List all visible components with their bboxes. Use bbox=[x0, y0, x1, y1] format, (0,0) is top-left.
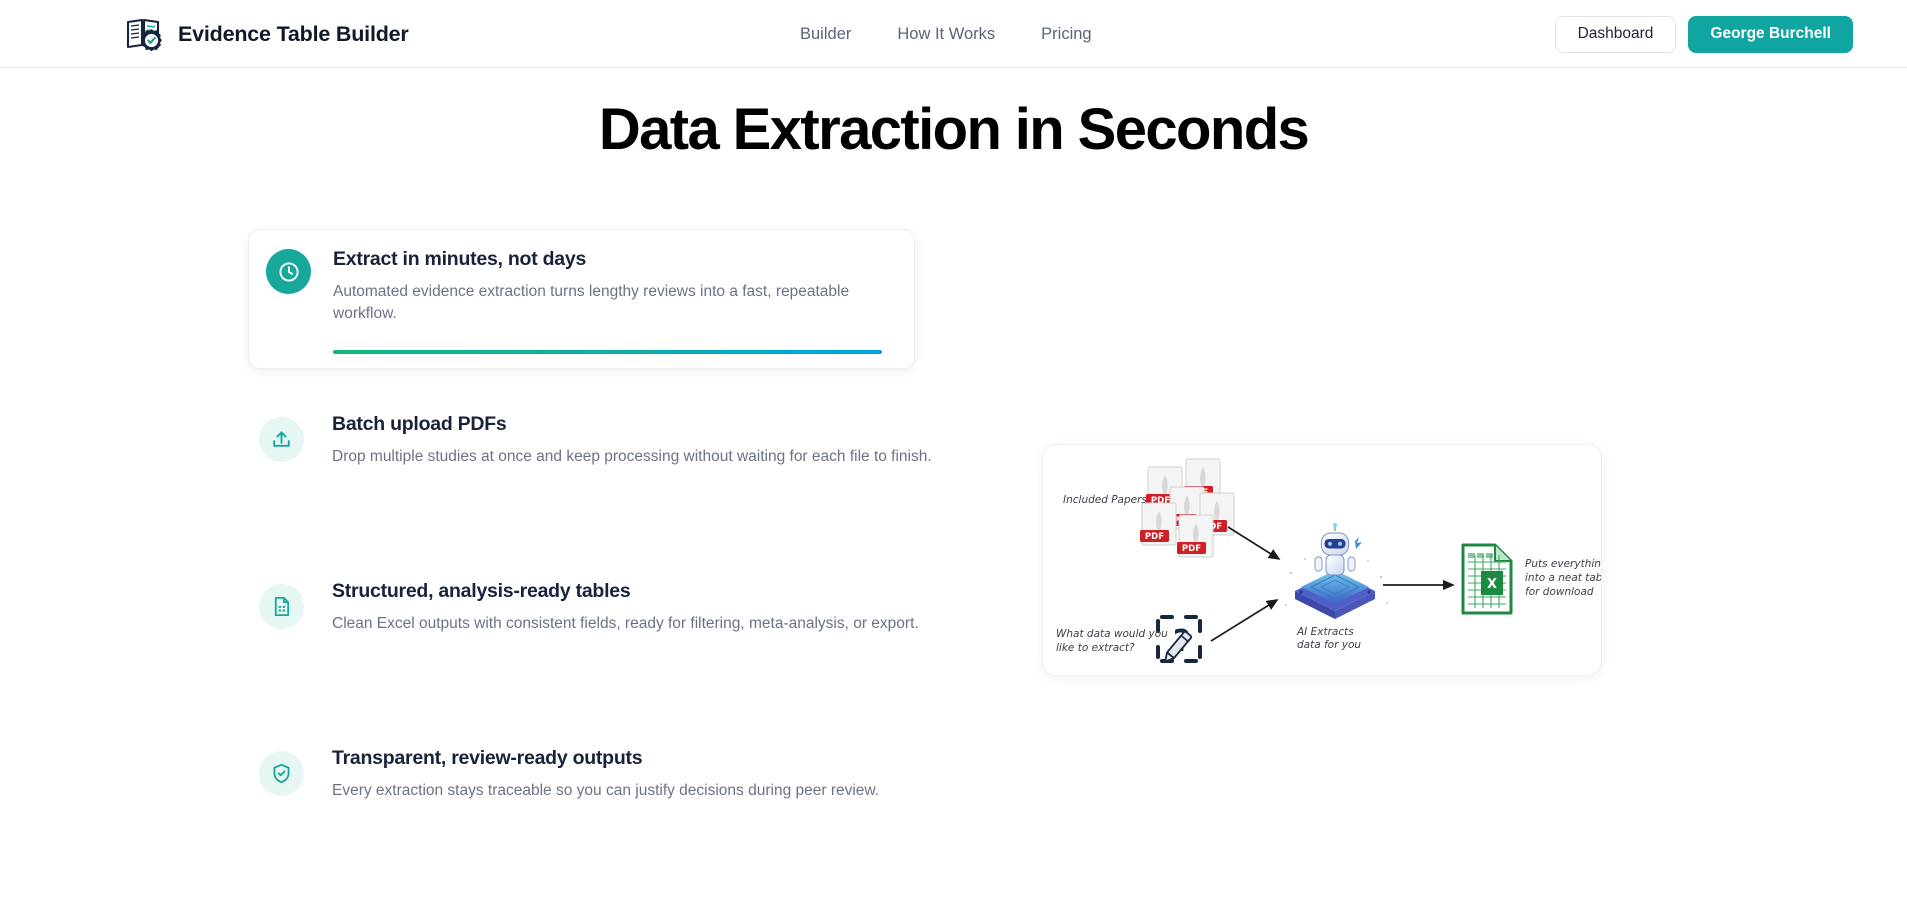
nav-builder[interactable]: Builder bbox=[800, 25, 851, 44]
nav-how-it-works[interactable]: How It Works bbox=[897, 25, 995, 44]
feature-progress-fill bbox=[333, 350, 882, 354]
feature-title: Transparent, review-ready outputs bbox=[332, 747, 932, 770]
site-header: Evidence Table Builder Builder How It Wo… bbox=[0, 0, 1907, 68]
nav-pricing[interactable]: Pricing bbox=[1041, 25, 1091, 44]
shield-check-icon bbox=[259, 751, 304, 796]
feature-progress-track bbox=[333, 350, 882, 354]
arrow-papers-to-ai bbox=[1228, 527, 1279, 559]
clock-icon bbox=[266, 249, 311, 294]
dashboard-button[interactable]: Dashboard bbox=[1555, 16, 1677, 53]
main-nav: Builder How It Works Pricing bbox=[800, 0, 1092, 68]
ai-robot-icon bbox=[1285, 523, 1388, 619]
svg-text:X: X bbox=[1487, 577, 1497, 592]
feature-icon-wrap bbox=[259, 751, 304, 796]
page-title: Data Extraction in Seconds bbox=[0, 96, 1907, 163]
header-actions: Dashboard George Burchell bbox=[1555, 0, 1853, 68]
feature-icon-wrap bbox=[259, 584, 304, 629]
svg-text:PDF: PDF bbox=[1182, 544, 1201, 554]
pdf-stack-icon: PDF PDF PDF PDF bbox=[1140, 459, 1234, 557]
question-clipboard-icon: ? bbox=[1158, 617, 1200, 664]
document-table-icon bbox=[259, 584, 304, 629]
feature-text: Transparent, review-ready outputs Every … bbox=[332, 747, 932, 802]
feature-icon-wrap bbox=[259, 417, 304, 462]
ai-label-line1: AI Extracts bbox=[1296, 626, 1354, 638]
excel-file-icon: X bbox=[1463, 545, 1511, 613]
feature-description: Every extraction stays traceable so you … bbox=[332, 780, 932, 802]
output-label-line2: into a neat table bbox=[1525, 572, 1602, 584]
ai-label-line2: data for you bbox=[1297, 639, 1361, 651]
workflow-illustration-panel: PDF PDF PDF PDF bbox=[1042, 444, 1602, 676]
question-label-line1: What data would you bbox=[1056, 628, 1168, 640]
output-label-line3: for download bbox=[1525, 586, 1594, 598]
feature-title: Batch upload PDFs bbox=[332, 413, 932, 436]
feature-text: Extract in minutes, not days Automated e… bbox=[333, 248, 893, 325]
arrow-question-to-ai bbox=[1211, 600, 1277, 641]
brand[interactable]: Evidence Table Builder bbox=[125, 0, 409, 68]
feature-icon-wrap bbox=[266, 249, 311, 294]
upload-icon bbox=[259, 417, 304, 462]
feature-text: Structured, analysis-ready tables Clean … bbox=[332, 580, 932, 635]
feature-text: Batch upload PDFs Drop multiple studies … bbox=[332, 413, 932, 468]
svg-text:PDF: PDF bbox=[1145, 532, 1164, 542]
book-gear-check-icon bbox=[125, 14, 165, 54]
feature-description: Drop multiple studies at once and keep p… bbox=[332, 446, 932, 468]
feature-title: Structured, analysis-ready tables bbox=[332, 580, 932, 603]
output-label-line1: Puts everything bbox=[1525, 558, 1602, 570]
feature-title: Extract in minutes, not days bbox=[333, 248, 893, 271]
user-account-button[interactable]: George Burchell bbox=[1688, 16, 1853, 53]
feature-description: Clean Excel outputs with consistent fiel… bbox=[332, 613, 932, 635]
papers-label: Included Papers bbox=[1063, 494, 1147, 506]
feature-description: Automated evidence extraction turns leng… bbox=[333, 281, 893, 325]
feature-card-highlighted[interactable]: Extract in minutes, not days Automated e… bbox=[248, 229, 915, 369]
question-label-line2: like to extract? bbox=[1056, 642, 1135, 654]
workflow-diagram: PDF PDF PDF PDF bbox=[1043, 445, 1602, 676]
brand-title: Evidence Table Builder bbox=[178, 22, 409, 47]
